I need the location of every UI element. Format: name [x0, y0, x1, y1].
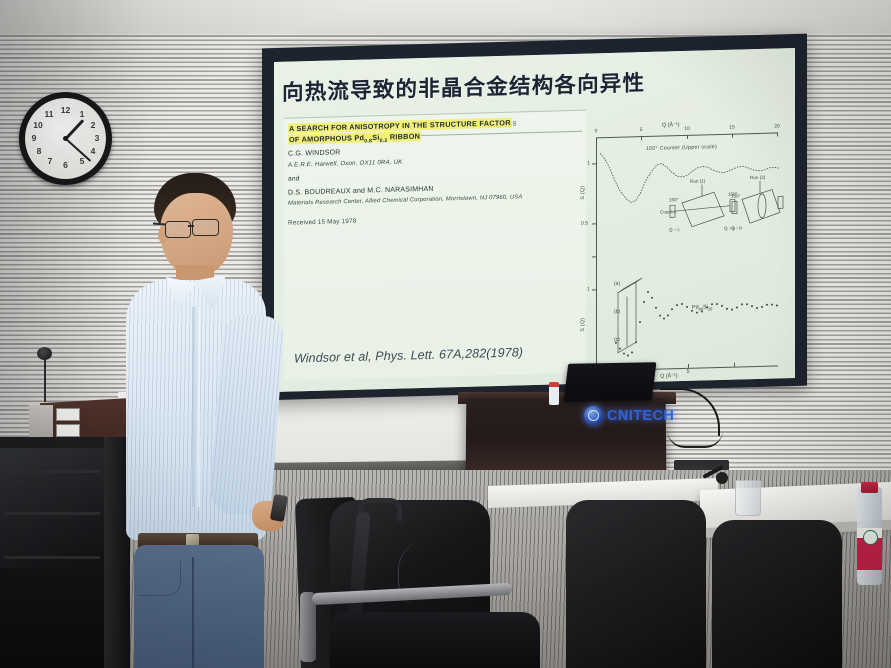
bottle-cap	[861, 482, 878, 493]
clock-numeral: 12	[60, 106, 72, 115]
shirt-placket	[192, 307, 200, 507]
inset-run2-label: Run (2)	[750, 175, 765, 180]
lectern-label-plate	[56, 408, 80, 421]
presentation-clicker	[270, 494, 288, 522]
inset2-angle-left: 150°	[731, 193, 741, 198]
lower-scale-datapoints	[615, 287, 778, 356]
clock-numeral: 9	[28, 134, 40, 143]
sample-composition-label: Pd80Si20	[692, 304, 712, 312]
inset-run2-diagram	[732, 180, 783, 223]
chair	[566, 500, 706, 668]
institution-emblem-icon	[584, 406, 603, 425]
paper-cup	[735, 480, 761, 516]
clock-numeral: 3	[91, 134, 103, 143]
wall-clock: 12 1 2 3 4 5 6 7 8 9 10 11	[19, 92, 112, 185]
lectern-label-plate	[56, 424, 80, 437]
slide-surface: 向热流导致的非晶合金结构各向异性 e 67A, number 4 PHYSICS…	[274, 48, 795, 392]
inset2-q-left: Q ↑ b	[731, 225, 742, 230]
presentation-laptop	[564, 362, 657, 402]
clock-numeral: 7	[44, 157, 56, 166]
eyeglasses-icon	[192, 219, 219, 236]
clock-numeral: 4	[87, 147, 99, 156]
rack-shelf	[4, 470, 100, 473]
projection-screen: 向热流导致的非晶合金结构各向异性 e 67A, number 4 PHYSICS…	[274, 48, 795, 392]
bottle-brand-icon	[863, 530, 878, 545]
clock-center-pin	[63, 136, 68, 141]
presentation-photo-scene: 12 1 2 3 4 5 6 7 8 9 10 11 向热流导致的非晶合金结构各…	[0, 0, 891, 668]
jeans-pocket	[140, 561, 181, 596]
small-bottle	[549, 382, 559, 405]
inset-run1-label: Run (1)	[690, 178, 705, 183]
presenter-arm	[209, 313, 285, 517]
chair-seat	[330, 612, 540, 668]
clock-numeral: 11	[43, 110, 55, 119]
rack-glass-door	[0, 448, 104, 568]
rack-shelf	[4, 556, 100, 559]
clock-numeral: 2	[87, 121, 99, 130]
eyeglasses-icon	[165, 221, 191, 238]
microphone-icon	[37, 347, 52, 360]
desk-microphone-base	[716, 472, 728, 484]
eyeglasses-bridge	[188, 225, 194, 227]
clock-numeral: 6	[60, 161, 72, 170]
annotation-b: (b)	[614, 309, 620, 315]
rack-shelf	[4, 512, 100, 515]
paper-author-1: C.G. WINDSOR	[288, 149, 341, 157]
presenter	[120, 165, 305, 668]
clock-numeral: 10	[32, 121, 44, 130]
annotation-c: (c)	[614, 337, 620, 343]
inset-angle-left: 150°	[669, 197, 679, 202]
clock-numeral: 8	[33, 147, 45, 156]
jeans-seam	[192, 557, 194, 668]
clock-face: 12 1 2 3 4 5 6 7 8 9 10 11	[25, 98, 106, 179]
paper-title-line2: OF AMORPHOUS Pd0.8Si0.2 RIBBON	[288, 131, 421, 145]
sample-box-diagram	[618, 278, 642, 353]
inset-q-left: Q ↑ c	[669, 227, 680, 232]
slide-title: 向热流导致的非晶合金结构各向异性	[282, 64, 712, 107]
structure-factor-figure: Q (Å⁻¹) 0 5 10 15 20 150° Counter (Upper…	[574, 106, 789, 380]
inset-run1-diagram	[670, 184, 735, 228]
inset-counter-label: Counter	[660, 209, 676, 214]
annotation-a: (a)	[614, 281, 620, 287]
chair	[712, 520, 842, 668]
figure-plot-curves	[574, 106, 789, 380]
clock-numeral: 1	[76, 110, 88, 119]
